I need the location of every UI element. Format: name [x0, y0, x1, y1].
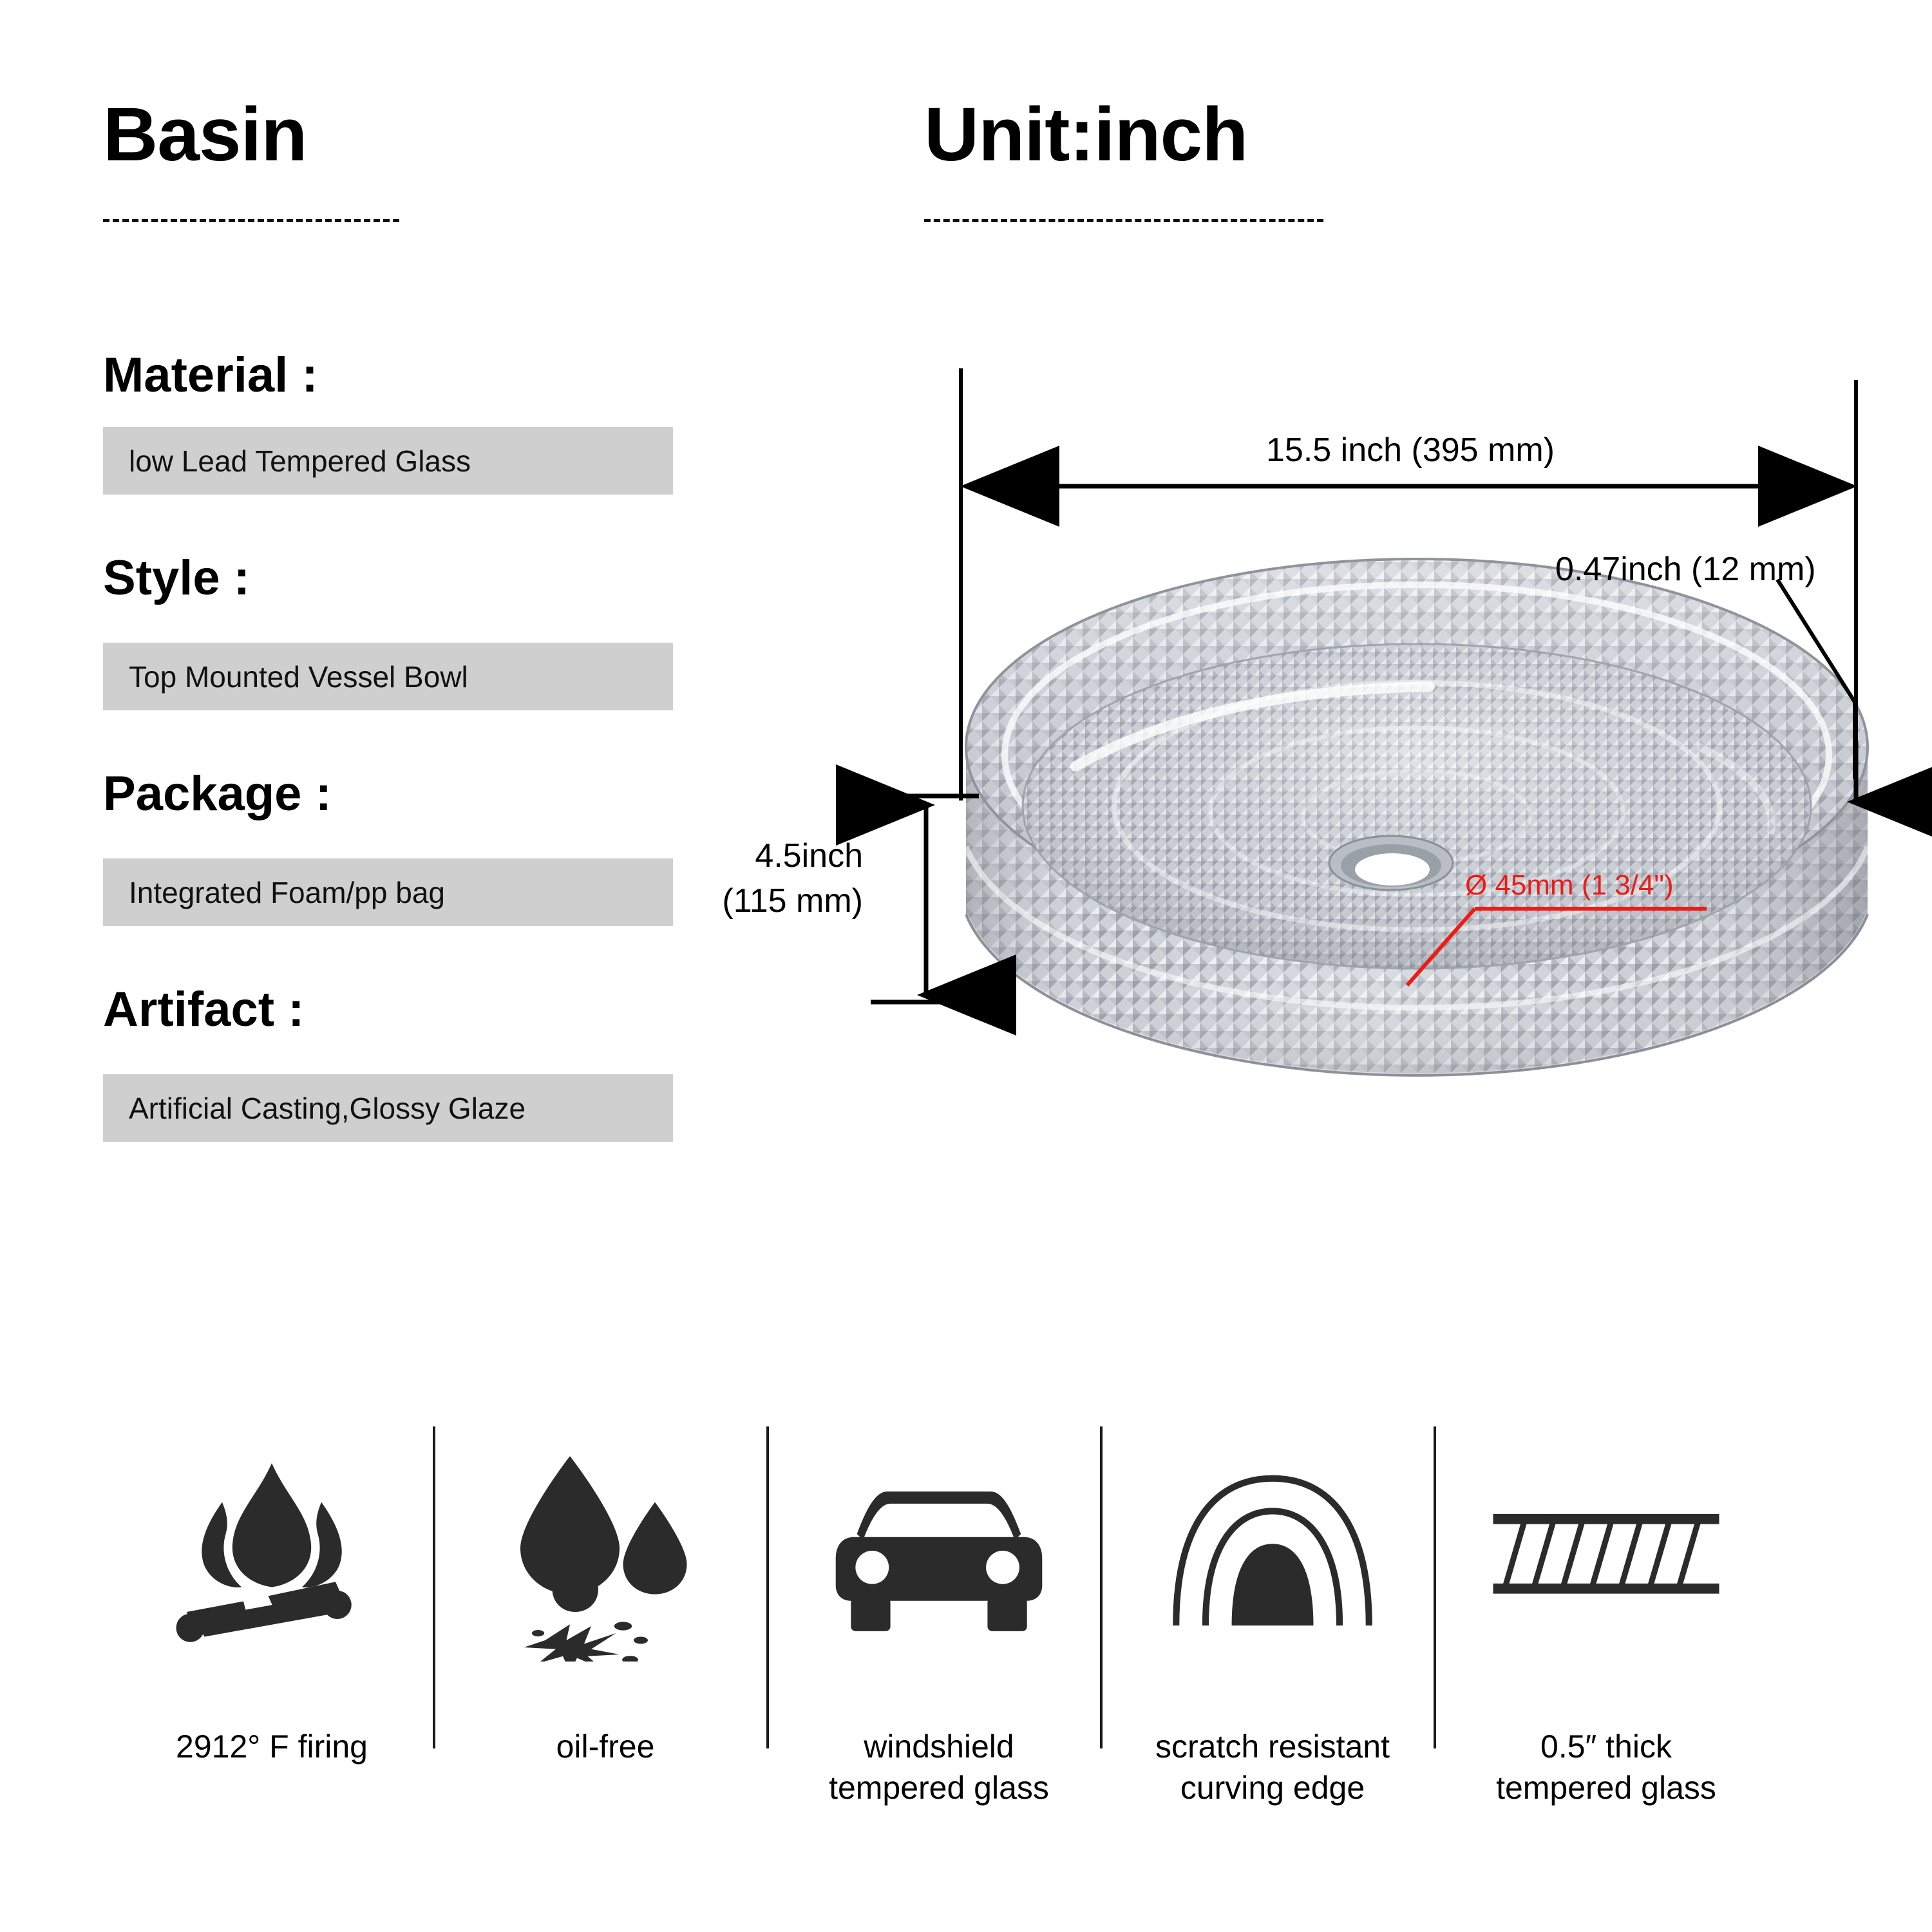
feature-thickness-caption: 0.5″ thick tempered glass: [1445, 1726, 1767, 1808]
feature-scratch-resistant-caption-line1: scratch resistant: [1112, 1726, 1434, 1767]
spec-label-artifact: Artifact :: [103, 985, 304, 1034]
feature-windshield-caption-line1: windshield: [778, 1726, 1100, 1767]
feature-windshield-caption-line2: tempered glass: [778, 1767, 1100, 1808]
slab-icon: [1445, 1417, 1767, 1694]
feature-thickness-caption-line2: tempered glass: [1445, 1767, 1767, 1808]
unit-title-underline: [924, 219, 1323, 222]
feature-thickness: 0.5″ thick tempered glass: [1445, 1417, 1767, 1842]
feature-scratch-resistant: scratch resistant curving edge: [1112, 1417, 1434, 1842]
rim-thickness-label: 0.47inch (12 mm): [1555, 551, 1816, 588]
feature-campfire: 2912° F firing: [111, 1417, 433, 1842]
height-dimension-label-line2: (115 mm): [670, 882, 863, 920]
feature-campfire-caption-line1: 2912° F firing: [111, 1726, 433, 1767]
height-dimension-label-line1: 4.5inch: [670, 837, 863, 875]
page-title-basin: Basin: [103, 97, 307, 173]
spec-value-material: low Lead Tempered Glass: [103, 427, 673, 495]
feature-windshield-caption: windshield tempered glass: [778, 1726, 1100, 1808]
width-dimension-label: 15.5 inch (395 mm): [1095, 431, 1726, 469]
feature-oil-free-caption: oil-free: [444, 1726, 766, 1767]
feature-scratch-resistant-caption: scratch resistant curving edge: [1112, 1726, 1434, 1808]
page-title-unit: Unit:inch: [924, 97, 1247, 173]
drain-diameter-label: Ø 45mm (1 3/4"): [1465, 869, 1674, 902]
basin-title-underline: [103, 219, 399, 222]
campfire-icon: [111, 1417, 433, 1694]
feature-windshield: windshield tempered glass: [778, 1417, 1100, 1842]
feature-divider-3: [1100, 1426, 1103, 1748]
feature-divider-4: [1434, 1426, 1436, 1748]
drain-hole: [1329, 836, 1453, 890]
spec-label-material: Material :: [103, 351, 318, 400]
product-spec-sheet: Basin Unit:inch Material : low Lead Temp…: [0, 0, 1932, 1932]
feature-oil-free-caption-line1: oil-free: [444, 1726, 766, 1767]
spec-value-artifact: Artificial Casting,Glossy Glaze: [103, 1074, 673, 1142]
feature-oil-free: oil-free: [444, 1417, 766, 1842]
spec-value-style: Top Mounted Vessel Bowl: [103, 643, 673, 710]
car-icon: [778, 1417, 1100, 1694]
feature-campfire-caption: 2912° F firing: [111, 1726, 433, 1767]
spec-value-package: Integrated Foam/pp bag: [103, 858, 673, 926]
arches-icon: [1112, 1417, 1434, 1694]
feature-divider-1: [433, 1426, 435, 1748]
basin-product-image: [940, 554, 1893, 1249]
spec-label-style: Style :: [103, 554, 250, 603]
feature-thickness-caption-line1: 0.5″ thick: [1445, 1726, 1767, 1767]
feature-divider-2: [766, 1426, 769, 1748]
oil-drops-icon: [444, 1417, 766, 1694]
feature-scratch-resistant-caption-line2: curving edge: [1112, 1767, 1434, 1808]
spec-label-package: Package :: [103, 770, 332, 819]
